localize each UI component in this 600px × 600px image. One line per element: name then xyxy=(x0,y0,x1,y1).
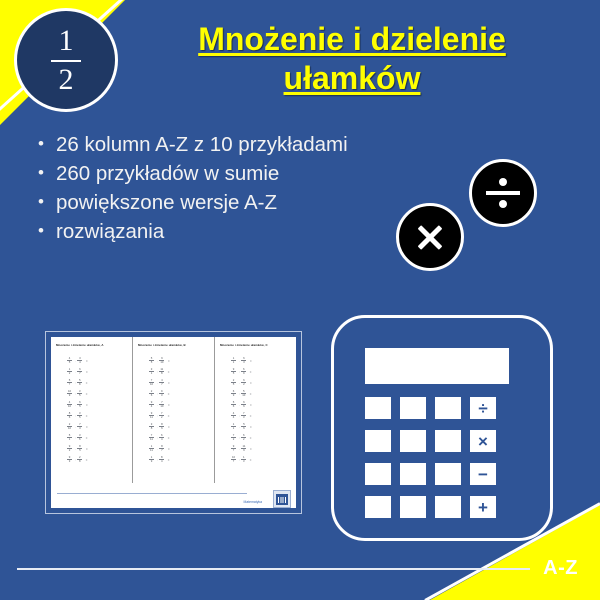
worksheet-problem: 19:84= xyxy=(149,454,210,465)
worksheet-problem: 11·63= xyxy=(231,355,292,366)
list-item: • 260 przykładów w sumie xyxy=(26,160,356,187)
list-item: • rozwiązania xyxy=(26,218,356,245)
calculator-number-key xyxy=(400,463,426,485)
worksheet-preview: Mnożenie i dzielenie ułamków, A 45·34=12… xyxy=(45,331,302,514)
calculator-number-key xyxy=(435,463,461,485)
worksheet-problem: 111·87= xyxy=(149,443,210,454)
worksheet-problem: 51:36= xyxy=(67,432,128,443)
calculator-number-key xyxy=(365,430,391,452)
bottom-horizontal-rule xyxy=(17,568,530,570)
worksheet-problem: 12·67= xyxy=(67,366,128,377)
calculator-number-key xyxy=(400,397,426,419)
fraction-one-half: 1 2 xyxy=(51,26,81,95)
calculator-keypad: ÷ × − + xyxy=(365,397,525,518)
worksheet-problem: 44:73= xyxy=(231,410,292,421)
worksheet-column-b: Mnożenie i dzielenie ułamków, B 55·910=3… xyxy=(132,337,214,483)
calculator-number-key xyxy=(435,496,461,518)
worksheet-problem: 93:28= xyxy=(67,454,128,465)
calculator-illustration: ÷ × − + xyxy=(331,315,553,541)
worksheet-columns: Mnożenie i dzielenie ułamków, A 45·34=12… xyxy=(51,337,296,483)
calculator-number-key xyxy=(435,397,461,419)
calculator-plus-key: + xyxy=(470,496,496,518)
calculator-minus-key: − xyxy=(470,463,496,485)
divide-icon xyxy=(486,178,520,208)
worksheet-problem: 710·47= xyxy=(149,377,210,388)
worksheet-problem: 55·910= xyxy=(149,355,210,366)
worksheet-problem: 45·34= xyxy=(67,355,128,366)
multiply-operator-badge xyxy=(396,203,464,271)
worksheet-footer-label: Matematyka xyxy=(244,500,262,504)
worksheet-problem: 69:510= xyxy=(231,388,292,399)
worksheet-column-title: Mnożenie i dzielenie ułamków, A xyxy=(56,343,128,347)
worksheet-problem: 72:62= xyxy=(231,432,292,443)
list-item-label: powiększone wersje A-Z xyxy=(56,189,356,216)
abacus-icon xyxy=(276,494,288,505)
fraction-denominator: 2 xyxy=(59,65,74,95)
worksheet-problem: 97·119= xyxy=(231,443,292,454)
worksheet-problem: 57:58= xyxy=(67,377,128,388)
worksheet-problem: 86:35= xyxy=(67,410,128,421)
worksheet-column-title: Mnożenie i dzielenie ułamków, C xyxy=(220,343,292,347)
worksheet-page: Mnożenie i dzielenie ułamków, A 45·34=12… xyxy=(51,337,296,508)
calculator-display xyxy=(365,348,509,384)
worksheet-problem: 109:35= xyxy=(67,388,128,399)
worksheet-problem: 711:64= xyxy=(149,432,210,443)
list-item: • powiększone wersje A-Z xyxy=(26,189,356,216)
worksheet-column-a: Mnożenie i dzielenie ułamków, A 45·34=12… xyxy=(51,337,132,483)
worksheet-problem: 11·56= xyxy=(231,421,292,432)
bullet-icon: • xyxy=(26,160,56,186)
worksheet-problem: 38·86= xyxy=(149,421,210,432)
divide-operator-badge xyxy=(469,159,537,227)
worksheet-column-title: Mnożenie i dzielenie ułamków, B xyxy=(138,343,210,347)
calculator-number-key xyxy=(365,463,391,485)
fraction-bar xyxy=(51,60,81,62)
worksheet-logo xyxy=(273,490,291,508)
list-item-label: rozwiązania xyxy=(56,218,356,245)
calculator-number-key xyxy=(435,430,461,452)
fraction-badge: 1 2 xyxy=(14,8,118,112)
worksheet-problem: 410·65= xyxy=(67,399,128,410)
calculator-number-key xyxy=(400,430,426,452)
calculator-number-key xyxy=(365,496,391,518)
worksheet-problem-list: 45·34=12·67=57:58=109:35=410·65=86:35=21… xyxy=(56,355,128,465)
multiply-icon xyxy=(415,222,445,252)
list-item: • 26 kolumn A-Z z 10 przykładami xyxy=(26,131,356,158)
list-item-label: 26 kolumn A-Z z 10 przykładami xyxy=(56,131,356,158)
calculator-divide-key: ÷ xyxy=(470,397,496,419)
worksheet-problem-list: 55·910=31:118=710·47=26:93=94·710=911:72… xyxy=(138,355,210,465)
feature-list: • 26 kolumn A-Z z 10 przykładami • 260 p… xyxy=(26,131,356,247)
bullet-icon: • xyxy=(26,131,56,157)
worksheet-problem: 210·73= xyxy=(67,421,128,432)
calculator-number-key xyxy=(365,397,391,419)
worksheet-problem: 31:118= xyxy=(149,366,210,377)
worksheet-problem: 26:93= xyxy=(149,388,210,399)
worksheet-problem: 25·62= xyxy=(231,377,292,388)
corner-az-label: A-Z xyxy=(543,557,578,580)
worksheet-problem: 92·85= xyxy=(67,443,128,454)
calculator-number-key xyxy=(400,496,426,518)
worksheet-footer-rule xyxy=(57,493,247,494)
page-title: Mnożenie i dzielenie ułamków xyxy=(128,20,576,98)
worksheet-problem: 911:72= xyxy=(149,410,210,421)
fraction-numerator: 1 xyxy=(59,26,74,56)
worksheet-problem-list: 11·63=95:69=25·62=69:510=56·66=44:73=11·… xyxy=(220,355,292,465)
worksheet-problem: 94·710= xyxy=(149,399,210,410)
list-item-label: 260 przykładów w sumie xyxy=(56,160,356,187)
bullet-icon: • xyxy=(26,218,56,244)
worksheet-problem: 56·66= xyxy=(231,399,292,410)
bullet-icon: • xyxy=(26,189,56,215)
worksheet-problem: 107:13= xyxy=(231,454,292,465)
worksheet-problem: 95:69= xyxy=(231,366,292,377)
calculator-multiply-key: × xyxy=(470,430,496,452)
poster-canvas: A-Z 1 2 Mnożenie i dzielenie ułamków • 2… xyxy=(0,0,600,600)
worksheet-column-c: Mnożenie i dzielenie ułamków, C 11·63=95… xyxy=(214,337,296,483)
